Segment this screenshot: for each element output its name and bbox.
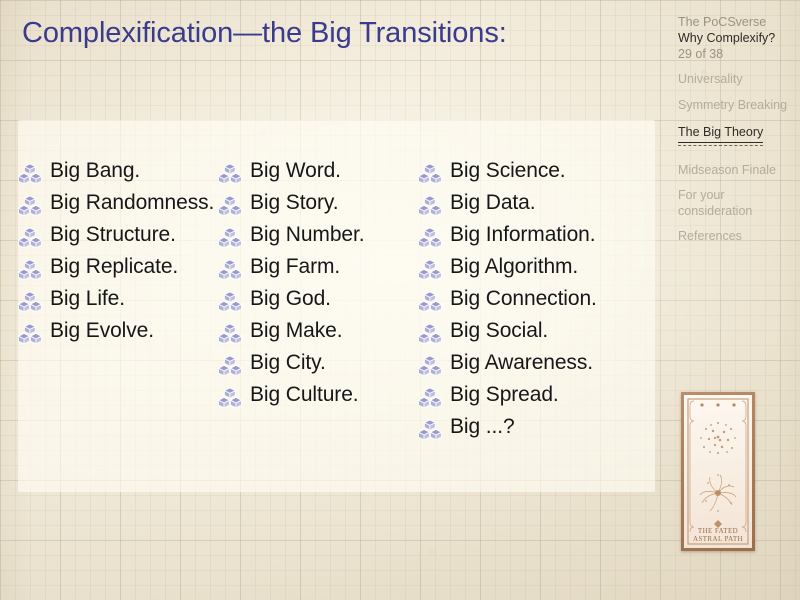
cube-stack-icon — [218, 291, 242, 313]
tarot-card-image: THE FATED ASTRAL PATH — [681, 392, 755, 551]
tarot-card-artwork — [684, 395, 752, 548]
list-item: Big Evolve. — [18, 316, 218, 345]
cube-stack-icon — [418, 419, 442, 441]
list-item: Big Make. — [218, 316, 418, 345]
sidebar-item-midseason-finale[interactable]: Midseason Finale — [678, 163, 796, 179]
list-item-label: Big Word. — [250, 156, 341, 185]
cube-stack-icon — [18, 291, 42, 313]
list-item-label: Big Data. — [450, 188, 535, 217]
list-item-label: Big Connection. — [450, 284, 597, 313]
list-item: Big Spread. — [418, 380, 658, 409]
sidebar-item-label: The Big Theory — [678, 125, 763, 143]
tarot-caption-line-1: THE FATED — [684, 527, 752, 535]
list-item-label: Big Number. — [250, 220, 364, 249]
sidebar-item-symmetry-breaking[interactable]: Symmetry Breaking — [678, 98, 796, 114]
list-item-label: Big Replicate. — [50, 252, 178, 281]
list-item-label: Big Bang. — [50, 156, 140, 185]
list-item: Big Bang. — [18, 156, 218, 185]
sidebar-item-label: Midseason Finale — [678, 163, 796, 179]
cube-stack-icon — [18, 163, 42, 185]
cube-stack-icon — [218, 259, 242, 281]
tarot-caption-line-2: ASTRAL PATH — [684, 535, 752, 543]
sidebar-navigation: The PoCSverse Why Complexify? 29 of 38 U… — [678, 14, 796, 255]
cube-stack-icon — [418, 355, 442, 377]
sidebar-item-list: UniversalitySymmetry BreakingThe Big The… — [678, 72, 796, 245]
cube-stack-icon — [418, 195, 442, 217]
bullet-column-3: Big Science.Big Data.Big Information.Big… — [418, 156, 658, 444]
slide-canvas: Complexification—the Big Transitions: Bi… — [0, 0, 800, 600]
sidebar-deck-title: Why Complexify? — [678, 30, 796, 46]
list-item-label: Big Spread. — [450, 380, 559, 409]
cube-stack-icon — [418, 291, 442, 313]
sidebar-item-label: References — [678, 229, 796, 245]
list-item: Big Replicate. — [18, 252, 218, 281]
list-item: Big Number. — [218, 220, 418, 249]
list-item-label: Big Randomness. — [50, 188, 214, 217]
sidebar-item-universality[interactable]: Universality — [678, 72, 796, 88]
list-item-label: Big Evolve. — [50, 316, 154, 345]
sidebar-item-for-your-consideration[interactable]: For your consideration — [678, 188, 796, 219]
list-item-label: Big Algorithm. — [450, 252, 578, 281]
list-item-label: Big Farm. — [250, 252, 340, 281]
list-item: Big ...? — [418, 412, 658, 441]
bullet-column-2: Big Word.Big Story.Big Number.Big Farm.B… — [218, 156, 418, 412]
sidebar-deck-name: The PoCSverse — [678, 14, 796, 30]
list-item: Big Randomness. — [18, 188, 218, 217]
list-item: Big Story. — [218, 188, 418, 217]
sidebar-item-the-big-theory[interactable]: The Big Theory — [678, 123, 796, 153]
list-item: Big Life. — [18, 284, 218, 313]
cube-stack-icon — [418, 163, 442, 185]
list-item: Big Science. — [418, 156, 658, 185]
cube-stack-icon — [218, 227, 242, 249]
list-item-label: Big City. — [250, 348, 326, 377]
cube-stack-icon — [218, 195, 242, 217]
cube-stack-icon — [18, 195, 42, 217]
list-item: Big God. — [218, 284, 418, 313]
cube-stack-icon — [218, 355, 242, 377]
bullet-columns: Big Bang.Big Randomness.Big Structure.Bi… — [18, 156, 658, 444]
list-item: Big Social. — [418, 316, 658, 345]
cube-stack-icon — [18, 227, 42, 249]
list-item-label: Big God. — [250, 284, 331, 313]
cube-stack-icon — [218, 323, 242, 345]
sidebar-slide-count: 29 of 38 — [678, 46, 796, 62]
cube-stack-icon — [418, 227, 442, 249]
sidebar-item-label: For your consideration — [678, 188, 796, 219]
list-item-label: Big Story. — [250, 188, 338, 217]
cube-stack-icon — [418, 387, 442, 409]
cube-stack-icon — [218, 387, 242, 409]
list-item-label: Big Information. — [450, 220, 595, 249]
list-item-label: Big Structure. — [50, 220, 176, 249]
list-item: Big Connection. — [418, 284, 658, 313]
cube-stack-icon — [218, 163, 242, 185]
list-item: Big City. — [218, 348, 418, 377]
list-item: Big Information. — [418, 220, 658, 249]
page-title: Complexification—the Big Transitions: — [22, 17, 507, 50]
cube-stack-icon — [18, 259, 42, 281]
list-item: Big Word. — [218, 156, 418, 185]
list-item: Big Data. — [418, 188, 658, 217]
list-item: Big Culture. — [218, 380, 418, 409]
list-item: Big Algorithm. — [418, 252, 658, 281]
tarot-card-caption: THE FATED ASTRAL PATH — [684, 527, 752, 543]
list-item-label: Big Culture. — [250, 380, 359, 409]
cube-stack-icon — [418, 323, 442, 345]
list-item-label: Big ...? — [450, 412, 515, 441]
list-item-label: Big Social. — [450, 316, 548, 345]
list-item: Big Farm. — [218, 252, 418, 281]
list-item-label: Big Science. — [450, 156, 566, 185]
tarot-card-inner: THE FATED ASTRAL PATH — [684, 395, 752, 548]
cube-stack-icon — [418, 259, 442, 281]
bullet-column-1: Big Bang.Big Randomness.Big Structure.Bi… — [18, 156, 218, 348]
cube-stack-icon — [18, 323, 42, 345]
list-item: Big Awareness. — [418, 348, 658, 377]
sidebar-item-label: Symmetry Breaking — [678, 98, 796, 114]
list-item-label: Big Make. — [250, 316, 342, 345]
sidebar-item-label: Universality — [678, 72, 796, 88]
sidebar-item-references[interactable]: References — [678, 229, 796, 245]
list-item-label: Big Life. — [50, 284, 125, 313]
list-item: Big Structure. — [18, 220, 218, 249]
list-item-label: Big Awareness. — [450, 348, 593, 377]
